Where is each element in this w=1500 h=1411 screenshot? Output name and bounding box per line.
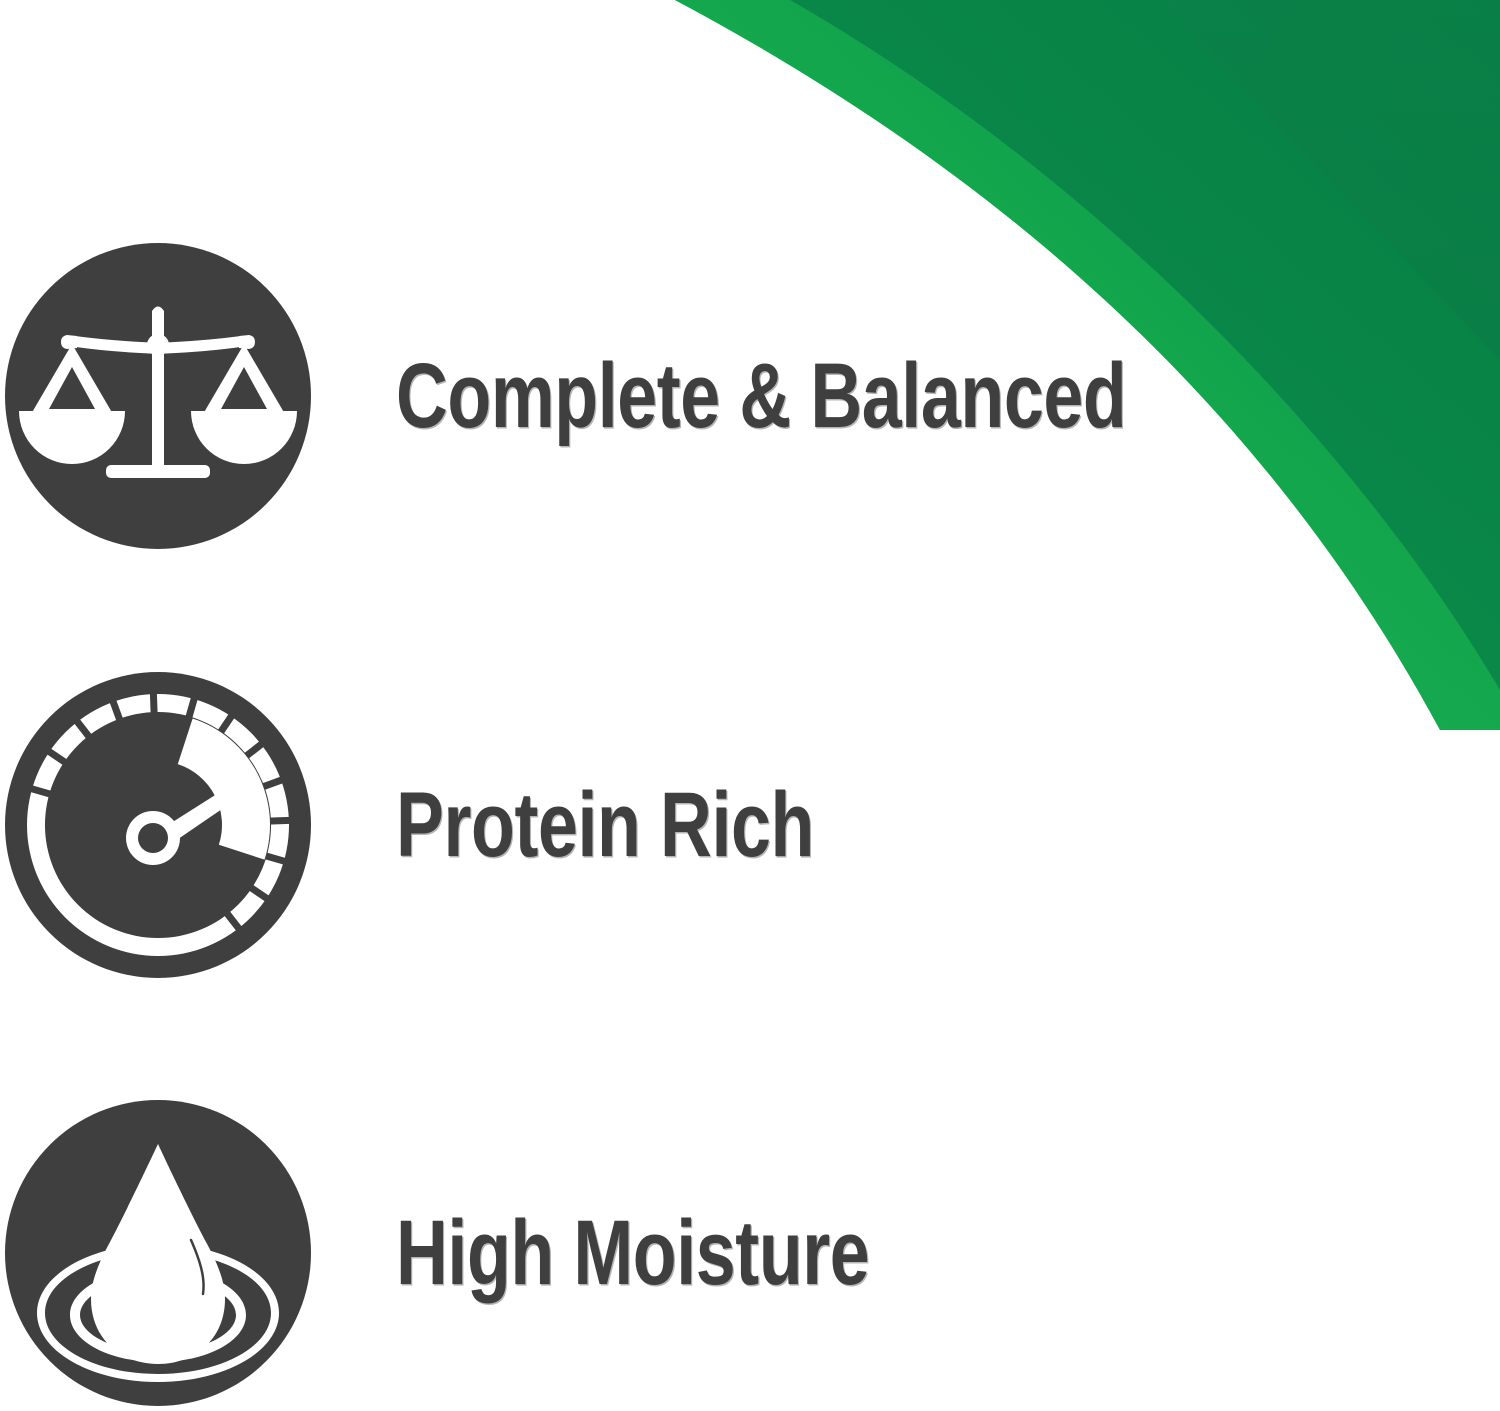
feature-label: Complete & Balanced: [396, 350, 1126, 442]
swoosh-dark-wedge: [1160, 0, 1500, 360]
balance-scale-icon: [5, 243, 311, 549]
water-droplet-icon: [5, 1100, 311, 1406]
feature-label: High Moisture: [396, 1207, 1008, 1299]
gauge-meter-icon: [5, 672, 311, 978]
feature-row: High Moisture: [0, 1100, 1180, 1406]
feature-label: Protein Rich: [396, 779, 1008, 871]
feature-row: Complete & Balanced: [0, 243, 1180, 549]
feature-row: Protein Rich: [0, 672, 1180, 978]
gauge-hub-core: [138, 823, 168, 853]
product-feature-panel: Complete & Balanced: [0, 0, 1500, 1411]
